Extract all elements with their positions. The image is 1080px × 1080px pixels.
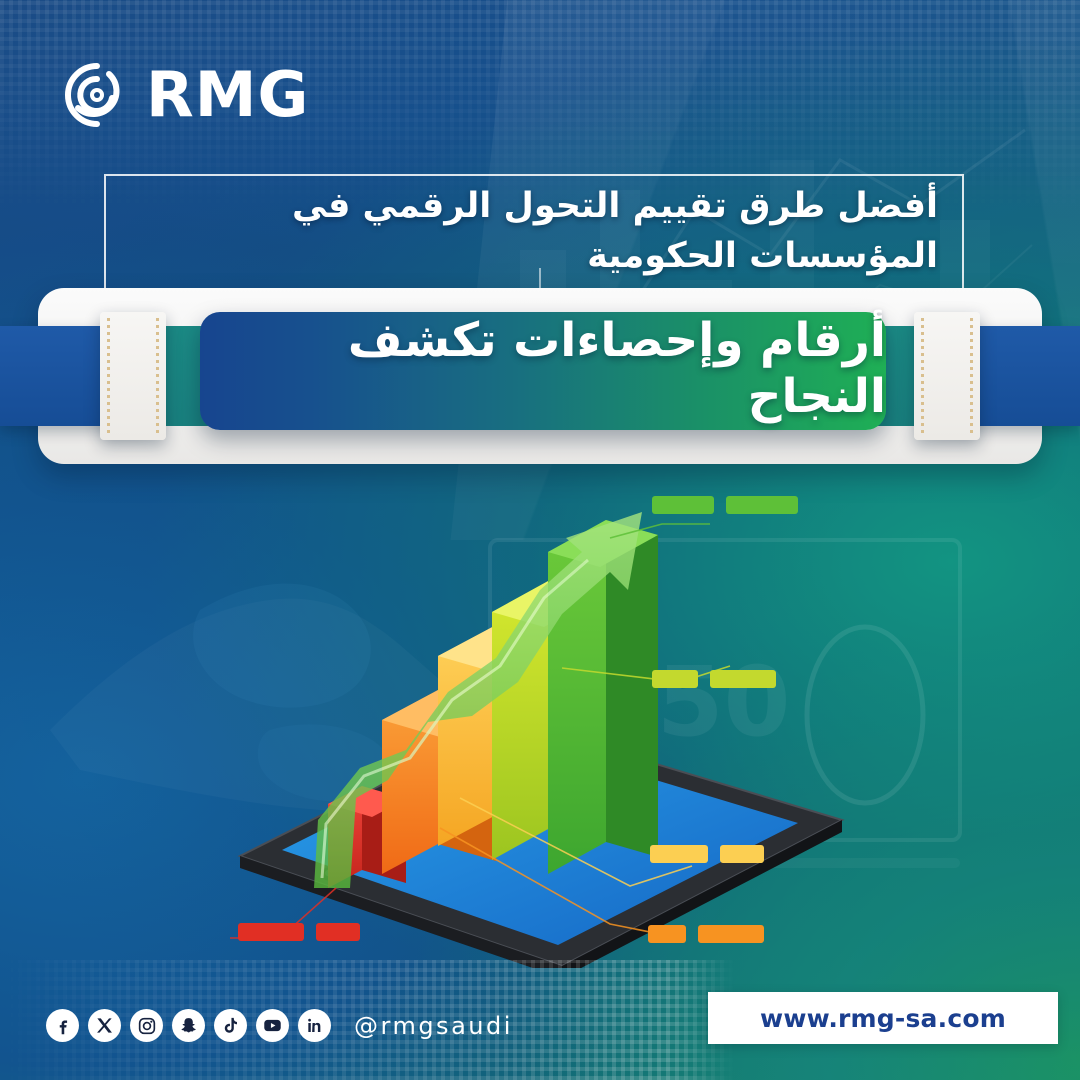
callout-bar (720, 845, 764, 863)
subtitle-banner: أرقام وإحصاءات تكشف النجاح (200, 312, 886, 430)
facebook-icon[interactable] (46, 1009, 79, 1042)
callout-bar (316, 923, 360, 941)
callout-bar (726, 496, 798, 514)
instagram-icon[interactable] (130, 1009, 163, 1042)
callout-bar (238, 923, 304, 941)
perforated-ticket-right (914, 312, 980, 440)
snapchat-icon[interactable] (172, 1009, 205, 1042)
callout-green (652, 496, 798, 514)
callout-yellow (650, 845, 764, 863)
website-url-box[interactable]: www.rmg-sa.com (708, 992, 1058, 1044)
perforated-ticket-left (100, 312, 166, 440)
callout-red (238, 923, 360, 941)
social-links: @rmgsaudi (46, 1009, 513, 1042)
callout-bar (648, 925, 686, 943)
callout-bar (650, 845, 708, 863)
callout-lime (652, 670, 776, 688)
website-url: www.rmg-sa.com (760, 1004, 1006, 1033)
callout-bar (652, 496, 714, 514)
subtitle-text: أرقام وإحصاءات تكشف النجاح (200, 313, 886, 430)
brand-logo[interactable]: RMG (64, 62, 309, 128)
social-post-canvas: 750 RMG أفضل طرق تقييم التحول الرقمي في … (0, 0, 1080, 1080)
x-twitter-icon[interactable] (88, 1009, 121, 1042)
callout-orange (648, 925, 764, 943)
brand-name: RMG (146, 64, 309, 126)
callout-bar (652, 670, 698, 688)
youtube-icon[interactable] (256, 1009, 289, 1042)
callout-bar (698, 925, 764, 943)
social-handle: @rmgsaudi (354, 1012, 513, 1040)
page-title: أفضل طرق تقييم التحول الرقمي في المؤسسات… (104, 176, 964, 288)
plaque-stem (539, 268, 541, 290)
rmg-spiral-icon (64, 62, 130, 128)
callout-bar (710, 670, 776, 688)
tiktok-icon[interactable] (214, 1009, 247, 1042)
isometric-bar-chart-illustration (210, 468, 870, 968)
linkedin-icon[interactable] (298, 1009, 331, 1042)
